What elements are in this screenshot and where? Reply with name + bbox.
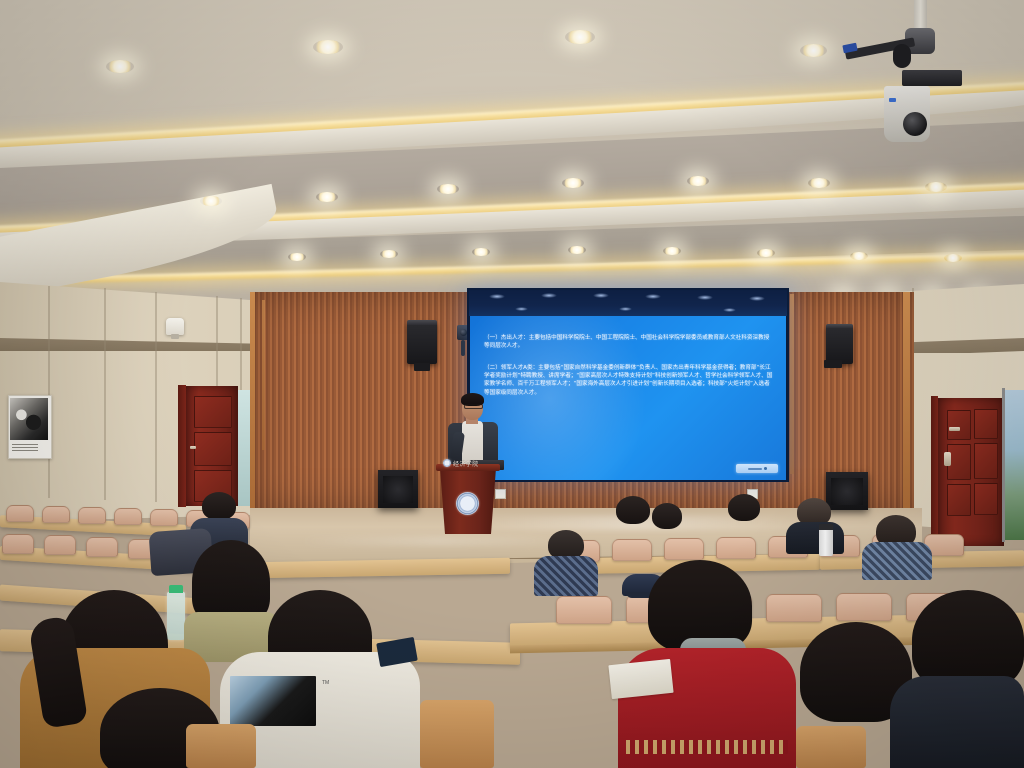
- stage-speaker-left: [407, 322, 437, 364]
- attendee-right-front-body: [890, 676, 1024, 768]
- stage-camera-stand: [461, 340, 465, 356]
- wall-left-seam: [48, 286, 50, 498]
- screen-reflection: [645, 294, 661, 299]
- subwoofer-left-driver: [383, 476, 413, 503]
- door-right-lock-icon: [949, 427, 960, 431]
- door-left-panel: [194, 396, 232, 428]
- screen-reflection: [697, 295, 713, 300]
- wood-wall-accent-strip: [262, 300, 265, 450]
- tshirt-tm-mark: TM: [322, 680, 329, 686]
- door-right-panel: [974, 409, 998, 439]
- downlight: [808, 178, 830, 188]
- wall-speaker-left: [166, 318, 184, 335]
- stage-speaker-right-bracket: [824, 360, 842, 368]
- attendee-back-left-head: [616, 496, 650, 524]
- downlight: [944, 254, 962, 262]
- chair[interactable]: [612, 539, 652, 561]
- stage-speaker-left-bracket: [414, 363, 430, 371]
- chair[interactable]: [766, 594, 822, 622]
- chair[interactable]: [86, 537, 118, 557]
- slide-paragraph-1: （一）杰出人才：主要包括中国科学院院士、中国工程院院士、中国社会科学院学部委员或…: [484, 334, 774, 350]
- downlight: [687, 176, 709, 186]
- attendee-right-front-head: [912, 590, 1024, 690]
- door-right-panel: [947, 410, 971, 440]
- water-bottle-cap: [169, 585, 183, 593]
- chair[interactable]: [150, 509, 178, 526]
- screen-reflection: [515, 307, 528, 311]
- slide-paragraph-2: （二）领军人才A类：主要包括“国家自然科学基金委创新群体”负责人、国家杰出青年科…: [484, 364, 774, 396]
- downlight: [316, 192, 338, 202]
- attendee-back-center-head: [202, 492, 236, 520]
- wall-speaker-left-bracket: [171, 334, 179, 339]
- slide-body-text: （一）杰出人才：主要包括中国科学院院士、中国工程院院士、中国社会科学院学部委员或…: [484, 334, 774, 406]
- attendee-red-cardigan-trim: [626, 740, 788, 754]
- attendee-back-right-head: [728, 494, 760, 521]
- screen-reflection: [541, 293, 557, 298]
- camera-status-led: [889, 98, 896, 102]
- attendee-back-far-body: [786, 522, 844, 554]
- slide-control-bar[interactable]: [736, 464, 778, 473]
- chair[interactable]: [78, 507, 106, 524]
- chair[interactable]: [420, 700, 494, 768]
- camera-control-bar: [902, 70, 962, 86]
- screen-reflection: [619, 307, 632, 311]
- camera-lens-icon: [903, 112, 927, 136]
- chair[interactable]: [44, 535, 76, 555]
- wall-left-seam: [104, 288, 106, 500]
- wall-left-seam: [155, 292, 157, 502]
- window-right: [1004, 390, 1024, 540]
- downlight: [757, 249, 775, 257]
- downlight: [663, 247, 681, 255]
- poster-image: [10, 398, 48, 440]
- chair[interactable]: [556, 596, 612, 624]
- poster-caption: [12, 444, 38, 452]
- led-screen-top-band: [469, 290, 787, 316]
- window-mullion: [1002, 388, 1005, 542]
- chair[interactable]: [664, 538, 704, 560]
- downlight: [106, 60, 134, 73]
- stage-camera-lens-icon: [460, 329, 467, 336]
- door-right-panel: [974, 483, 998, 515]
- stage-speaker-right-top: [826, 324, 853, 328]
- downlight: [472, 248, 490, 256]
- chair[interactable]: [186, 724, 256, 768]
- chair[interactable]: [42, 506, 70, 523]
- wood-wall-trim-left: [250, 292, 255, 510]
- desk-row: [250, 558, 510, 579]
- screen-reflection: [489, 294, 505, 299]
- downlight: [850, 252, 868, 260]
- wall-outlet-plate: [495, 489, 506, 499]
- downlight: [565, 30, 595, 44]
- chair[interactable]: [114, 508, 142, 525]
- door-left-handle[interactable]: [190, 446, 196, 449]
- screen-reflection: [723, 308, 736, 312]
- downlight: [568, 246, 586, 254]
- open-notebook[interactable]: [608, 659, 673, 699]
- chair[interactable]: [6, 505, 34, 522]
- downlight: [800, 44, 827, 57]
- attendee-checked-shirt-body: [534, 556, 598, 596]
- presentation-slide[interactable]: （一）杰出人才：主要包括中国科学院院士、中国工程院院士、中国社会科学院学部委员或…: [470, 316, 786, 480]
- door-right-panel: [947, 484, 971, 516]
- downlight: [925, 182, 947, 192]
- chair[interactable]: [716, 537, 756, 559]
- subwoofer-right-driver: [831, 478, 863, 505]
- attendee-back-mid-head: [652, 503, 682, 529]
- downlight: [313, 40, 343, 54]
- stage-floor-reflection: [300, 536, 580, 546]
- downlight: [562, 178, 584, 188]
- downlight: [380, 250, 398, 258]
- tshirt-graphic-print: [230, 676, 316, 726]
- podium-label: 经济学院: [453, 459, 479, 468]
- thermos-tumbler: [819, 528, 833, 556]
- chair[interactable]: [2, 534, 34, 554]
- lecture-hall-photo: （一）杰出人才：主要包括中国科学院院士、中国工程院院士、中国社会科学院学部委员或…: [0, 0, 1024, 768]
- presenter-glasses-icon: [464, 404, 483, 409]
- screen-reflection: [593, 293, 609, 298]
- stage-speaker-left-top: [407, 320, 437, 325]
- slide-progress-bar: [748, 468, 762, 470]
- wood-wall-accent-strip: [790, 294, 794, 474]
- door-left-frame: [178, 385, 186, 507]
- chair[interactable]: [836, 593, 892, 621]
- door-left-panel: [194, 432, 232, 466]
- downlight: [288, 253, 306, 261]
- attendee-dark-suit-body: [862, 542, 932, 580]
- slide-control-dot-icon[interactable]: [764, 467, 767, 470]
- screen-reflection: [749, 296, 765, 301]
- door-right-frame: [931, 396, 938, 546]
- stage-speaker-right: [826, 326, 853, 364]
- thermos-tumbler-lid: [819, 524, 833, 530]
- water-bottle: [167, 592, 185, 640]
- camera-yoke: [893, 44, 911, 68]
- downlight: [437, 184, 459, 194]
- door-right-panel: [974, 443, 998, 479]
- chair[interactable]: [796, 726, 866, 768]
- podium-emblem-icon: [443, 459, 451, 467]
- wood-wall-trim-right: [903, 292, 910, 510]
- podium-front-emblem-icon: [456, 492, 479, 515]
- downlight: [200, 196, 222, 206]
- door-right-handle[interactable]: [944, 452, 951, 466]
